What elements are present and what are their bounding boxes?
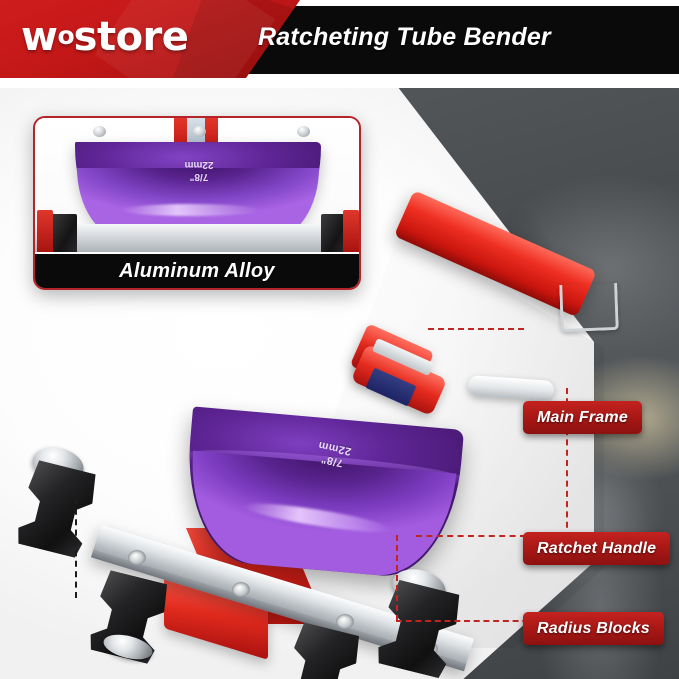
inset-red-rail-right [343,210,359,252]
inset-red-rail-left [37,210,53,252]
brand-logo: wostore [21,14,188,60]
inset-cross-bar [35,224,359,252]
cross-bar-screw [336,614,354,629]
logo-part-w: w [21,14,57,60]
product-photo-stage: 7/8" 22mm [0,88,679,679]
inset-shoe-size-label: 7/8" 22mm [159,158,239,182]
inset-bar-screw [93,126,106,137]
logo-part-store: store [74,14,189,60]
callout-radius-blocks[interactable]: Radius Blocks [523,612,664,645]
aluminum-alloy-inset: 7/8" 22mm Aluminum Alloy [33,116,361,290]
logo-part-o: o [57,21,73,50]
inset-photo: 7/8" 22mm [35,118,359,252]
inset-banner-text: Aluminum Alloy [119,260,275,283]
product-infographic: wostore Ratcheting Tube Bender 7/8" 22mm [0,0,679,679]
inset-shoe-highlight [121,204,261,216]
page-title: Ratcheting Tube Bender [258,23,551,52]
wire-hook-icon [559,283,619,332]
inset-shoe-size-imperial: 7/8" [159,170,239,182]
callout-ratchet-handle[interactable]: Ratchet Handle [523,532,670,565]
inset-bar-screw [297,126,310,137]
callout-main-frame[interactable]: Main Frame [523,401,642,434]
cross-bar-screw [128,550,146,565]
inset-shoe-size-metric: 22mm [159,158,239,170]
inset-bar-screw [193,126,206,137]
inset-block-left [51,214,77,252]
inset-banner: Aluminum Alloy [35,254,359,288]
cross-bar-screw [232,582,250,597]
bending-shoe: 7/8" 22mm [180,406,464,581]
header-bar: wostore Ratcheting Tube Bender [0,0,679,78]
